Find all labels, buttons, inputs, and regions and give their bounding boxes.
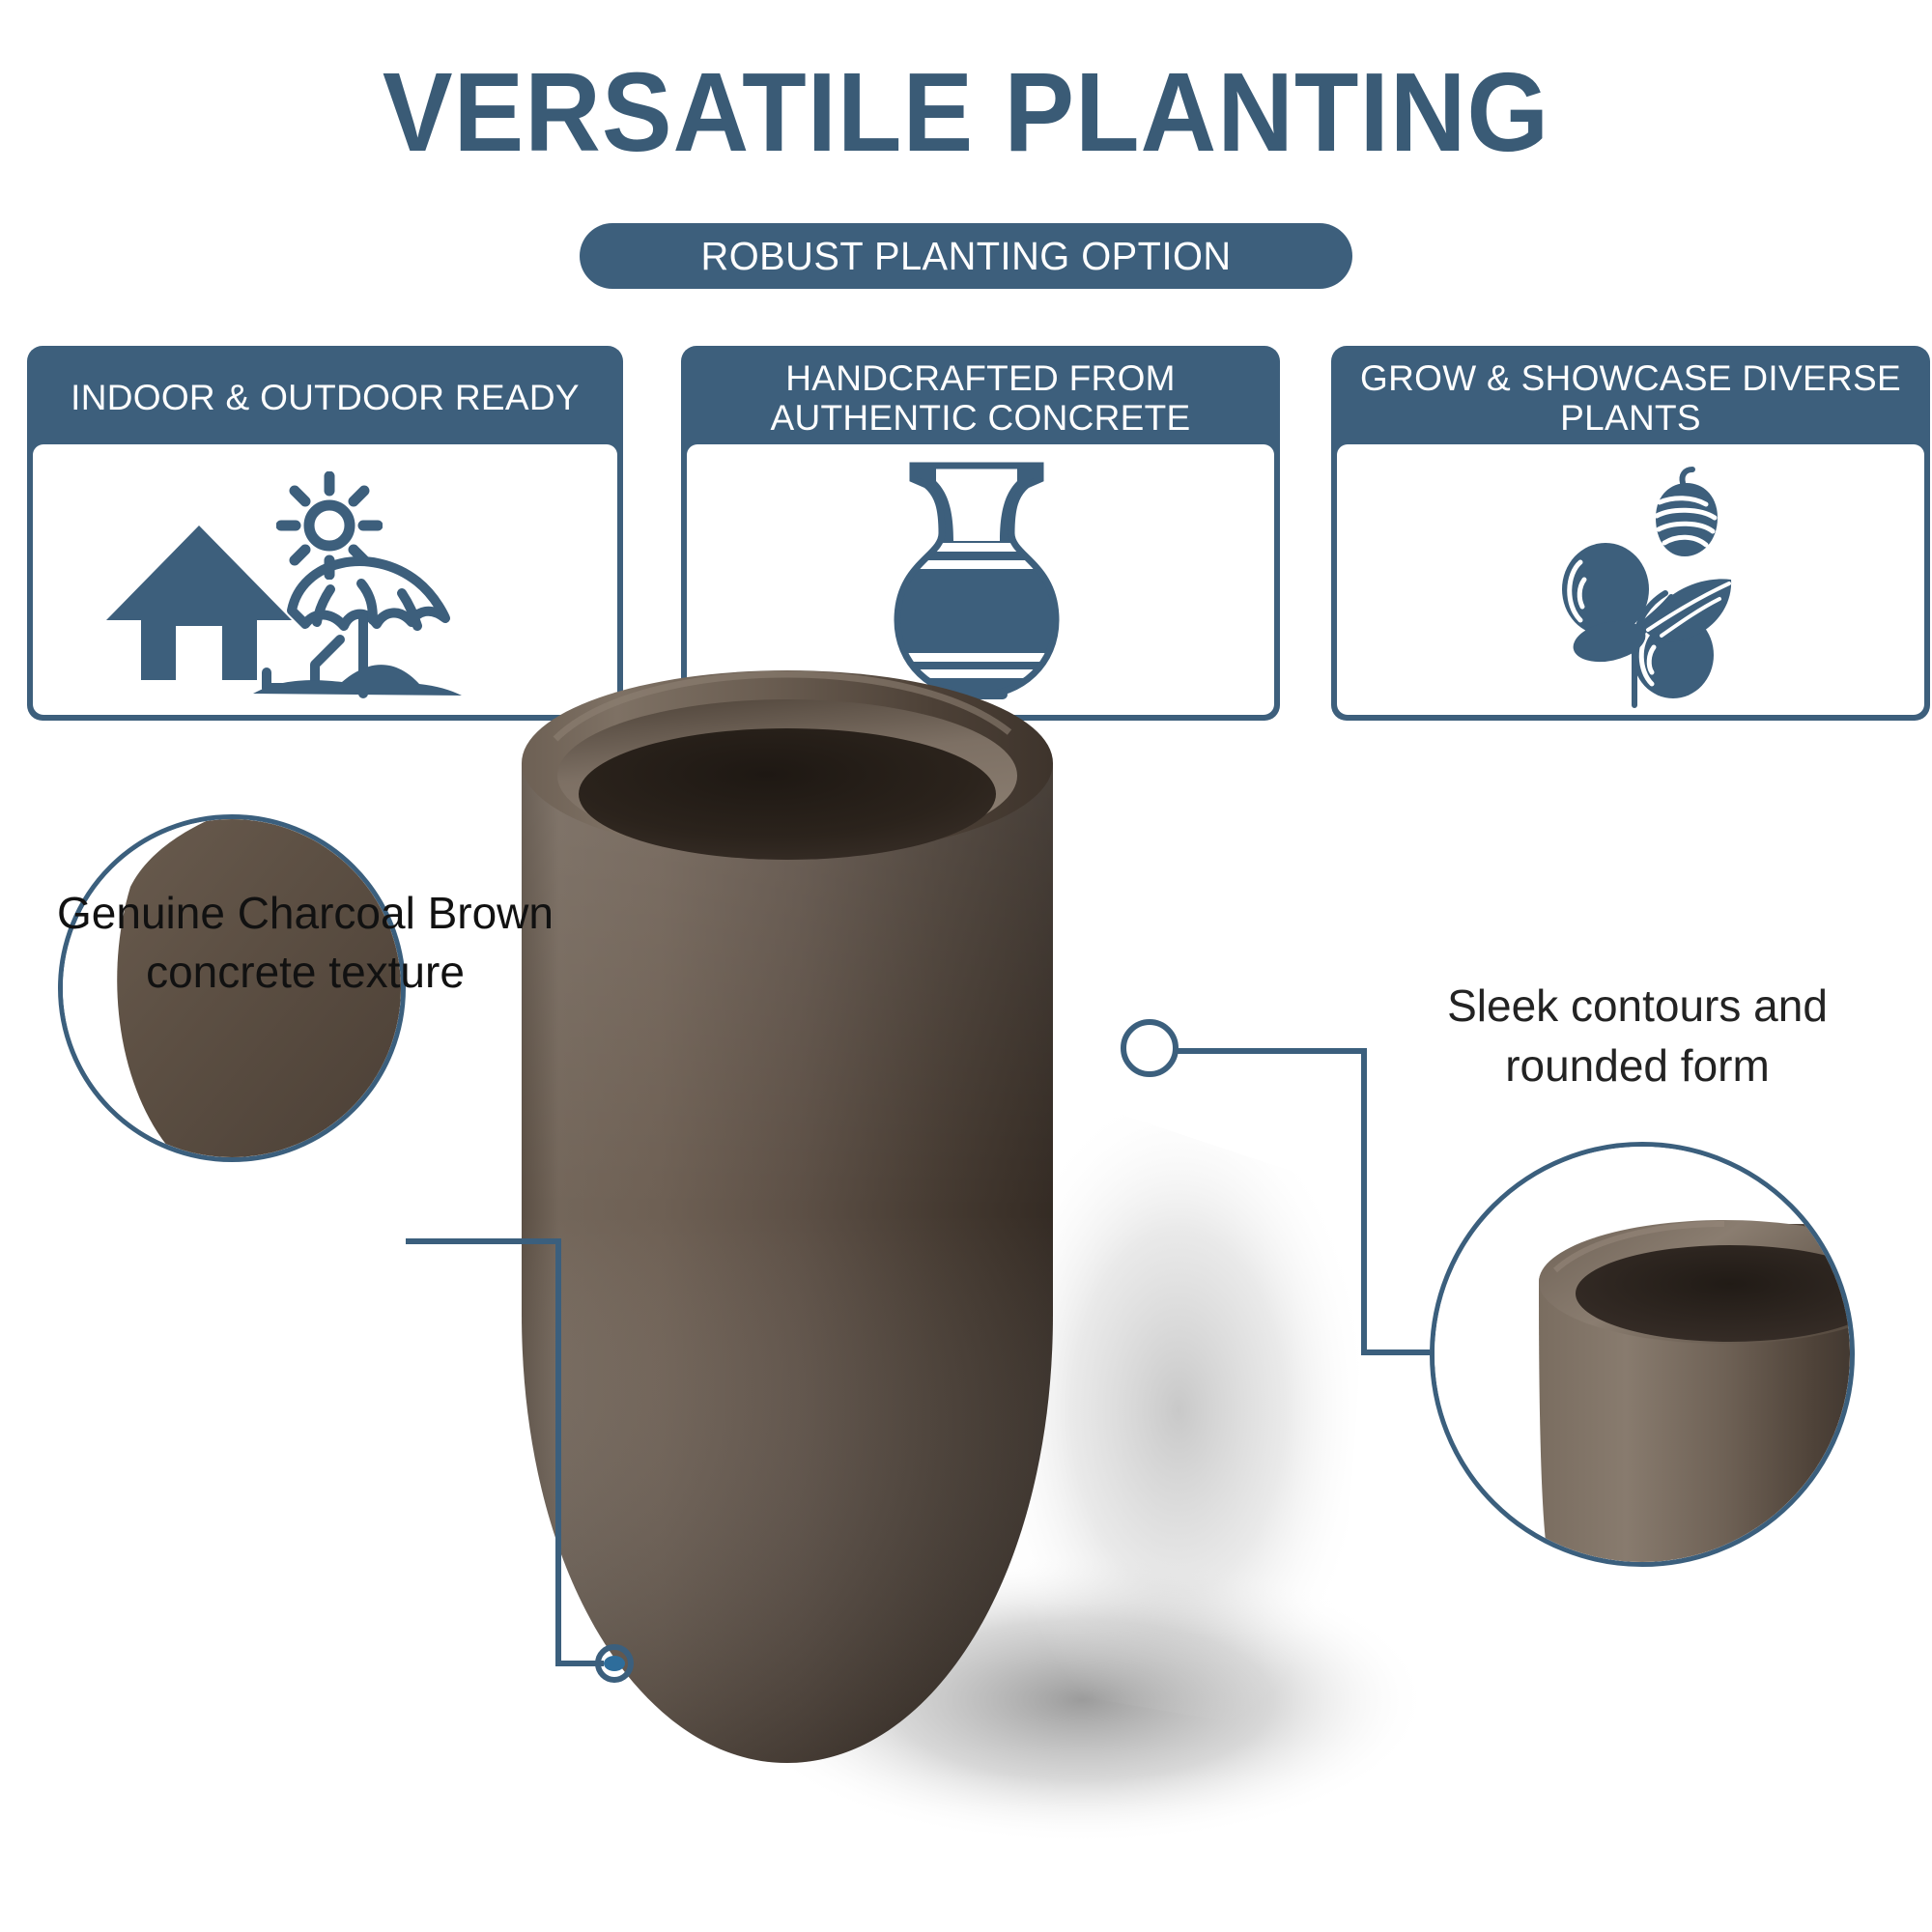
callout-leader-lines: [0, 0, 1932, 1932]
product-infographic-page: VERSATILE PLANTING ROBUST PLANTING OPTIO…: [0, 0, 1932, 1932]
leader-line-texture: [406, 1241, 604, 1663]
open-circle-marker: [1123, 1022, 1176, 1074]
leader-line-contours: [1176, 1051, 1430, 1352]
